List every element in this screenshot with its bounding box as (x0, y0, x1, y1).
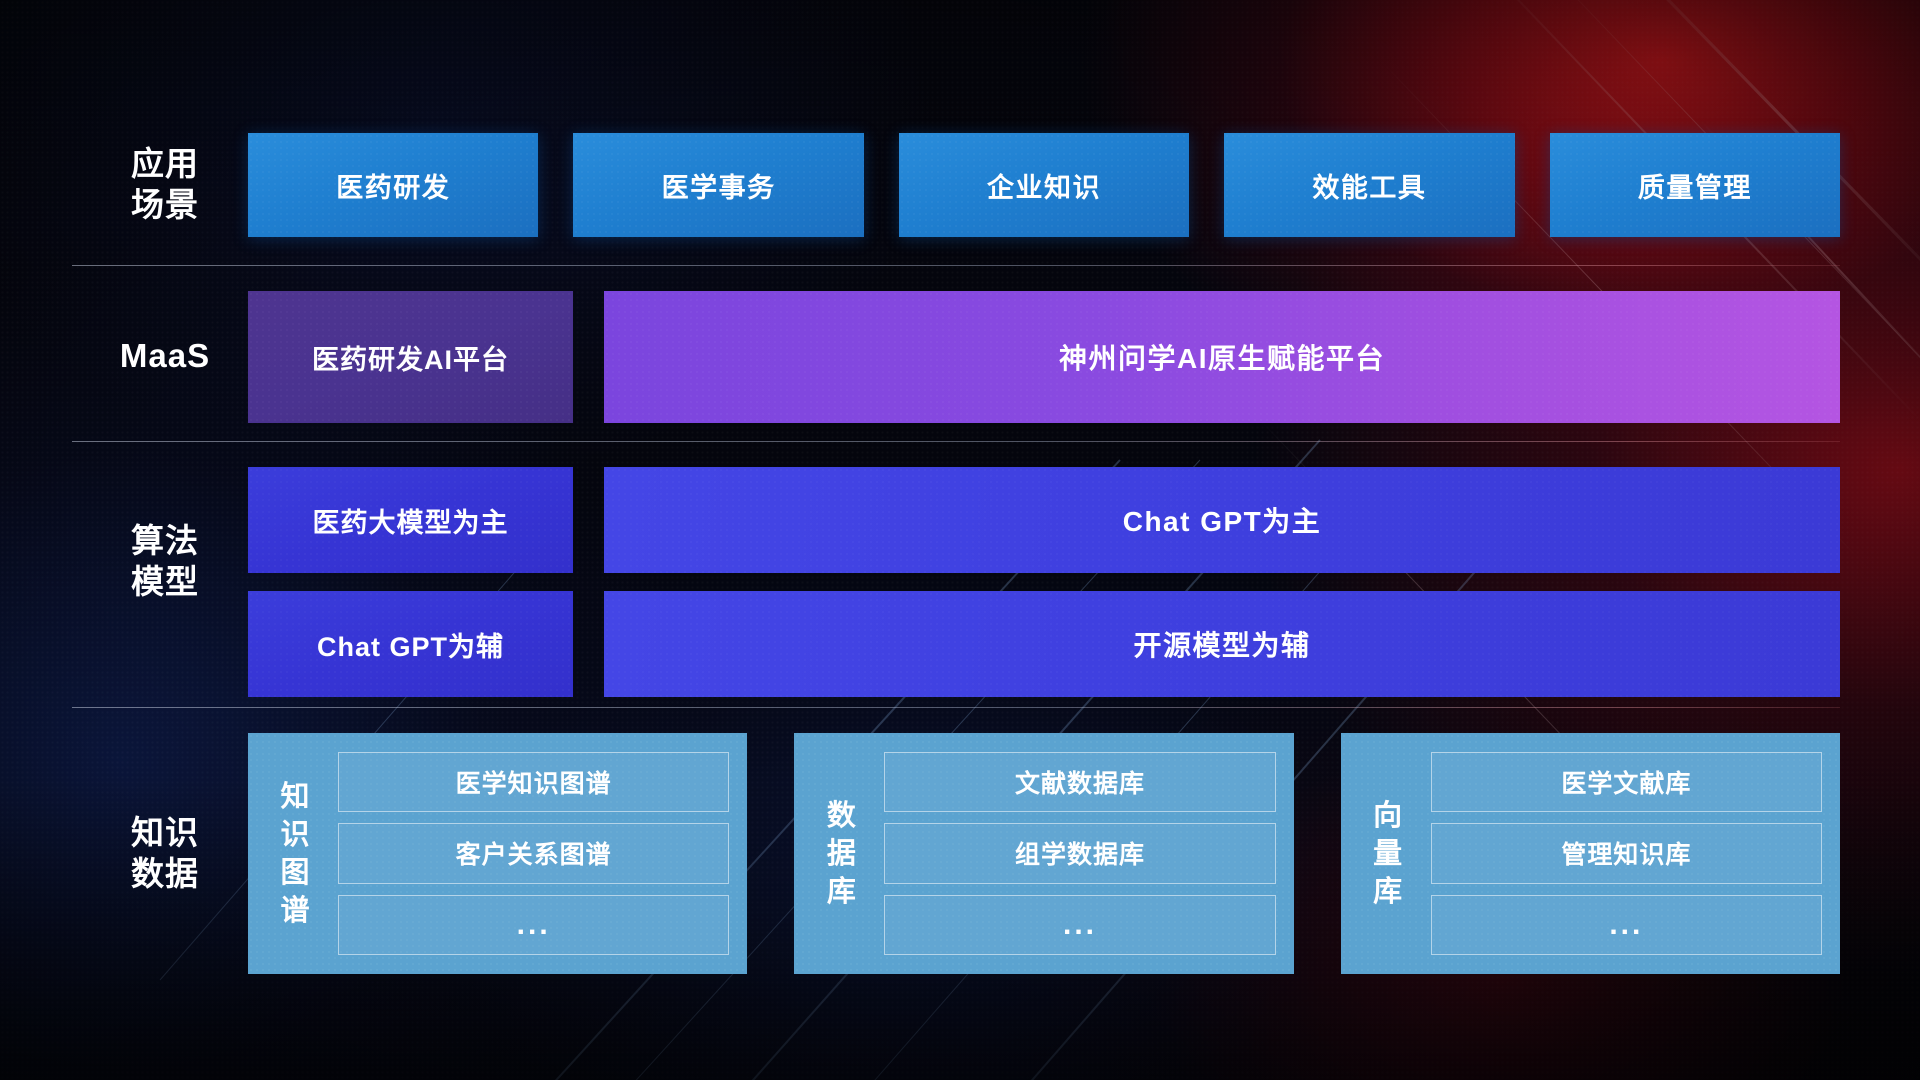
scenario-card-quality-management[interactable]: 质量管理 (1550, 133, 1840, 237)
algorithm-card-chatgpt-primary[interactable]: Chat GPT为主 (604, 467, 1840, 573)
row-label-algorithm: 算法 模型 (90, 520, 240, 602)
algorithm-line-secondary: Chat GPT为辅 开源模型为辅 (248, 591, 1840, 697)
row-label-algorithm-line2: 模型 (90, 561, 240, 602)
scenario-card-efficiency-tools[interactable]: 效能工具 (1224, 133, 1514, 237)
knowledge-block-row: 知 识 图 谱 医学知识图谱 客户关系图谱 ... 数 据 库 文献数据库 组学… (248, 733, 1840, 974)
title-char: 数 (827, 797, 856, 835)
row-label-scenario: 应用 场景 (90, 143, 240, 225)
divider-scenario-maas (72, 265, 1840, 266)
row-label-knowledge: 知识 数据 (90, 812, 240, 894)
title-char: 库 (827, 873, 856, 911)
maas-row: 医药研发AI平台 神州问学AI原生赋能平台 (248, 291, 1840, 423)
title-char: 库 (1373, 873, 1402, 911)
title-char: 谱 (280, 892, 309, 930)
title-char: 量 (1373, 835, 1402, 873)
knowledge-item-omics-database[interactable]: 组学数据库 (884, 823, 1275, 883)
knowledge-item-literature-database[interactable]: 文献数据库 (884, 752, 1275, 812)
scenario-card-medicine-rd[interactable]: 医药研发 (248, 133, 538, 237)
knowledge-item-more[interactable]: ... (1431, 895, 1822, 955)
row-label-scenario-line1: 应用 (90, 143, 240, 184)
maas-card-shenzhou-platform[interactable]: 神州问学AI原生赋能平台 (604, 291, 1840, 423)
knowledge-item-list: 医学文献库 管理知识库 ... (1431, 752, 1822, 955)
title-char: 据 (827, 835, 856, 873)
knowledge-item-management-knowledge-store[interactable]: 管理知识库 (1431, 823, 1822, 883)
knowledge-block-knowledge-graph[interactable]: 知 识 图 谱 医学知识图谱 客户关系图谱 ... (248, 733, 747, 974)
divider-algorithm-knowledge (72, 707, 1840, 708)
algorithm-card-opensource-secondary[interactable]: 开源模型为辅 (604, 591, 1840, 697)
scenario-card-enterprise-knowledge[interactable]: 企业知识 (899, 133, 1189, 237)
knowledge-block-title-vector-store: 向 量 库 (1357, 752, 1419, 955)
scenario-card-medical-affairs[interactable]: 医学事务 (573, 133, 863, 237)
knowledge-block-database[interactable]: 数 据 库 文献数据库 组学数据库 ... (794, 733, 1293, 974)
knowledge-item-more[interactable]: ... (884, 895, 1275, 955)
maas-card-pharma-platform[interactable]: 医药研发AI平台 (248, 291, 573, 423)
algorithm-row: 医药大模型为主 Chat GPT为主 Chat GPT为辅 开源模型为辅 (248, 467, 1840, 697)
row-label-maas-line1: MaaS (90, 335, 240, 376)
scenario-card-row: 医药研发 医学事务 企业知识 效能工具 质量管理 (248, 133, 1840, 237)
row-label-algorithm-line1: 算法 (90, 520, 240, 561)
knowledge-item-customer-relation-graph[interactable]: 客户关系图谱 (338, 823, 729, 883)
title-char: 向 (1373, 797, 1402, 835)
knowledge-block-title-knowledge-graph: 知 识 图 谱 (264, 752, 326, 955)
knowledge-item-more[interactable]: ... (338, 895, 729, 955)
knowledge-block-vector-store[interactable]: 向 量 库 医学文献库 管理知识库 ... (1341, 733, 1840, 974)
divider-maas-algorithm (72, 441, 1840, 442)
algorithm-card-pharma-llm-primary[interactable]: 医药大模型为主 (248, 467, 573, 573)
row-label-knowledge-line2: 数据 (90, 853, 240, 894)
knowledge-block-title-database: 数 据 库 (810, 752, 872, 955)
title-char: 识 (280, 816, 309, 854)
row-label-maas: MaaS (90, 335, 240, 376)
title-char: 图 (280, 854, 309, 892)
knowledge-item-medical-knowledge-graph[interactable]: 医学知识图谱 (338, 752, 729, 812)
title-char: 知 (280, 778, 309, 816)
row-label-scenario-line2: 场景 (90, 184, 240, 225)
knowledge-item-list: 医学知识图谱 客户关系图谱 ... (338, 752, 729, 955)
algorithm-card-chatgpt-secondary[interactable]: Chat GPT为辅 (248, 591, 573, 697)
row-label-knowledge-line1: 知识 (90, 812, 240, 853)
knowledge-item-medical-literature-store[interactable]: 医学文献库 (1431, 752, 1822, 812)
algorithm-line-primary: 医药大模型为主 Chat GPT为主 (248, 467, 1840, 573)
knowledge-item-list: 文献数据库 组学数据库 ... (884, 752, 1275, 955)
